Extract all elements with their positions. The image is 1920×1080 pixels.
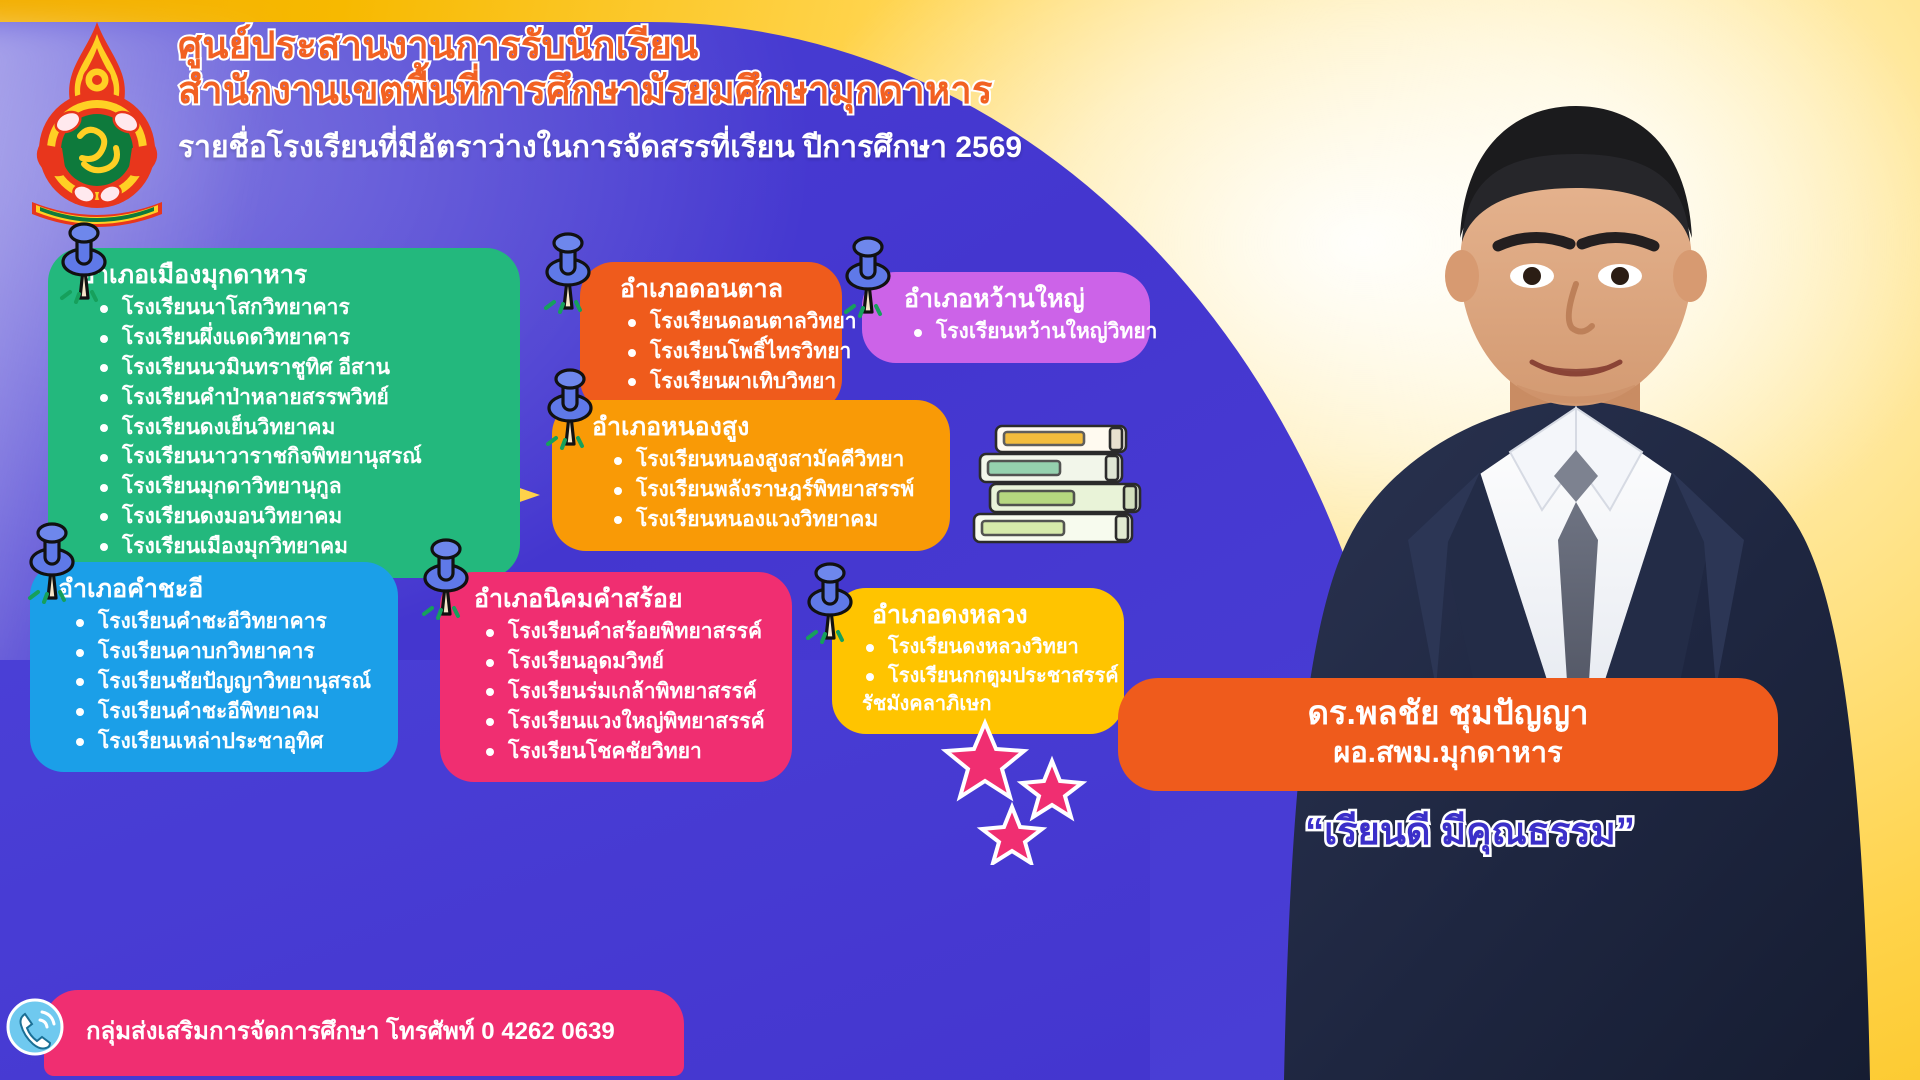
pushpin-icon	[20, 512, 84, 604]
school-list: โรงเรียนนาโสกวิทยาคาร โรงเรียนผึ่งแดดวิท…	[72, 293, 496, 561]
phone-icon[interactable]	[6, 998, 64, 1056]
pushpin-icon	[538, 358, 602, 450]
school-list: โรงเรียนคำสร้อยพิทยาสรรค์ โรงเรียนอุดมวิ…	[464, 617, 768, 766]
district-card-dontan[interactable]: อำเภอดอนตาล โรงเรียนดอนตาลวิทยา โรงเรียน…	[580, 262, 842, 413]
list-item: โรงเรียนพลังราษฎร์พิทยาสรรพ์	[614, 475, 926, 505]
list-item: โรงเรียนดงเย็นวิทยาคม	[100, 413, 496, 443]
obec-emblem-icon	[22, 18, 172, 233]
list-item: โรงเรียนผึ่งแดดวิทยาคาร	[100, 323, 496, 353]
list-item: โรงเรียนหนองแวงวิทยาคม	[614, 505, 926, 535]
list-item: โรงเรียนคำชะอีวิทยาคาร	[76, 607, 374, 637]
list-item: โรงเรียนชัยปัญญาวิทยานุสรณ์	[76, 667, 374, 697]
school-list: โรงเรียนหว้านใหญ่วิทยา	[886, 317, 1126, 347]
list-item: โรงเรียนดอนตาลวิทยา	[628, 307, 818, 337]
pushpin-icon	[798, 552, 862, 644]
pushpin-icon	[52, 212, 116, 304]
list-item: โรงเรียนแวงใหญ่พิทยาสรรค์	[486, 707, 768, 737]
district-title: อำเภอหนองสูง	[592, 412, 926, 443]
page-title-line2: สำนักงานเขตพื้นที่การศึกษามัรยมศึกษามุกด…	[178, 69, 1138, 114]
district-card-nongsung[interactable]: อำเภอหนองสูง โรงเรียนหนองสูงสามัคคีวิทยา…	[552, 400, 950, 551]
school-list: โรงเรียนหนองสูงสามัคคีวิทยา โรงเรียนพลัง…	[576, 445, 926, 534]
pushpin-icon	[836, 226, 900, 318]
list-item: โรงเรียนหนองสูงสามัคคีวิทยา	[614, 445, 926, 475]
list-item: โรงเรียนกกตูมประชาสรรค์	[866, 662, 1100, 690]
motto-text: “เรียนดี มีคุณธรรม”	[1160, 800, 1780, 861]
school-list: โรงเรียนคำชะอีวิทยาคาร โรงเรียนคาบกวิทยา…	[54, 607, 374, 756]
list-item: โรงเรียนคำชะอีพิทยาคม	[76, 697, 374, 727]
list-item: โรงเรียนนวมินทราชูทิศ อีสาน	[100, 353, 496, 383]
list-item: โรงเรียนเหล่าประชาอุทิศ	[76, 727, 374, 757]
list-item: โรงเรียนอุดมวิทย์	[486, 647, 768, 677]
district-title: อำเภอหว้านใหญ่	[904, 284, 1126, 315]
pushpin-icon	[536, 222, 600, 314]
page-subtitle: รายชื่อโรงเรียนที่มีอัตราว่างในการจัดสรร…	[178, 124, 1138, 171]
district-card-nikhom[interactable]: อำเภอนิคมคำสร้อย โรงเรียนคำสร้อยพิทยาสรร…	[440, 572, 792, 782]
list-item: โรงเรียนผาเทิบวิทยา	[628, 367, 818, 397]
name-plate: ดร.พลชัย ชุมปัญญา ผอ.สพม.มุกดาหาร	[1118, 678, 1778, 791]
page-title-line1: ศูนย์ประสานงานการรับนักเรียน	[178, 24, 1138, 69]
person-position: ผอ.สพม.มุกดาหาร	[1148, 735, 1748, 773]
person-name: ดร.พลชัย ชุมปัญญา	[1148, 692, 1748, 735]
portrait-photo	[1160, 0, 1920, 1080]
district-title: อำเภอดอนตาล	[620, 274, 818, 305]
list-item: โรงเรียนโพธิ์ไทรวิทยา	[628, 337, 818, 367]
list-item: โรงเรียนคาบกวิทยาคาร	[76, 637, 374, 667]
list-item: โรงเรียนมุกดาวิทยานุกูล	[100, 472, 496, 502]
list-item: โรงเรียนโชคชัยวิทยา	[486, 737, 768, 767]
header-block: ศูนย์ประสานงานการรับนักเรียน สำนักงานเขต…	[178, 24, 1138, 171]
list-item: โรงเรียนหว้านใหญ่วิทยา	[914, 317, 1126, 347]
district-title: อำเภอนิคมคำสร้อย	[474, 584, 768, 615]
footer-contact-bar: กลุ่มส่งเสริมการจัดการศึกษา โทรศัพท์ 0 4…	[44, 990, 684, 1076]
school-list: โรงเรียนดงหลวงวิทยา โรงเรียนกกตูมประชาสร…	[856, 633, 1100, 718]
list-item: โรงเรียนคำสร้อยพิทยาสรรค์	[486, 617, 768, 647]
stars-icon	[940, 715, 1100, 865]
district-card-khamchaee[interactable]: อำเภอคำชะอี โรงเรียนคำชะอีวิทยาคาร โรงเร…	[30, 562, 398, 772]
list-item: โรงเรียนดงหลวงวิทยา	[866, 633, 1100, 661]
pushpin-icon	[414, 528, 478, 620]
list-item: โรงเรียนคำป่าหลายสรรพวิทย์	[100, 383, 496, 413]
district-title: อำเภอเมืองมุกดาหาร	[80, 260, 496, 291]
footer-contact-text: กลุ่มส่งเสริมการจัดการศึกษา โทรศัพท์ 0 4…	[86, 1011, 615, 1050]
list-item: โรงเรียนนาวาราชกิจพิทยานุสรณ์	[100, 442, 496, 472]
poster-canvas: ศูนย์ประสานงานการรับนักเรียน สำนักงานเขต…	[0, 0, 1920, 1080]
district-title: อำเภอคำชะอี	[58, 574, 374, 605]
district-title: อำเภอดงหลวง	[872, 600, 1100, 631]
school-list: โรงเรียนดอนตาลวิทยา โรงเรียนโพธิ์ไทรวิทย…	[604, 307, 818, 396]
district-card-wanyai[interactable]: อำเภอหว้านใหญ่ โรงเรียนหว้านใหญ่วิทยา	[862, 272, 1150, 363]
list-item: โรงเรียนนาโสกวิทยาคาร	[100, 293, 496, 323]
list-item: โรงเรียนร่มเกล้าพิทยาสรรค์	[486, 677, 768, 707]
stack-of-books-icon	[960, 410, 1170, 555]
district-card-dongluang[interactable]: อำเภอดงหลวง โรงเรียนดงหลวงวิทยา โรงเรียน…	[832, 588, 1124, 734]
